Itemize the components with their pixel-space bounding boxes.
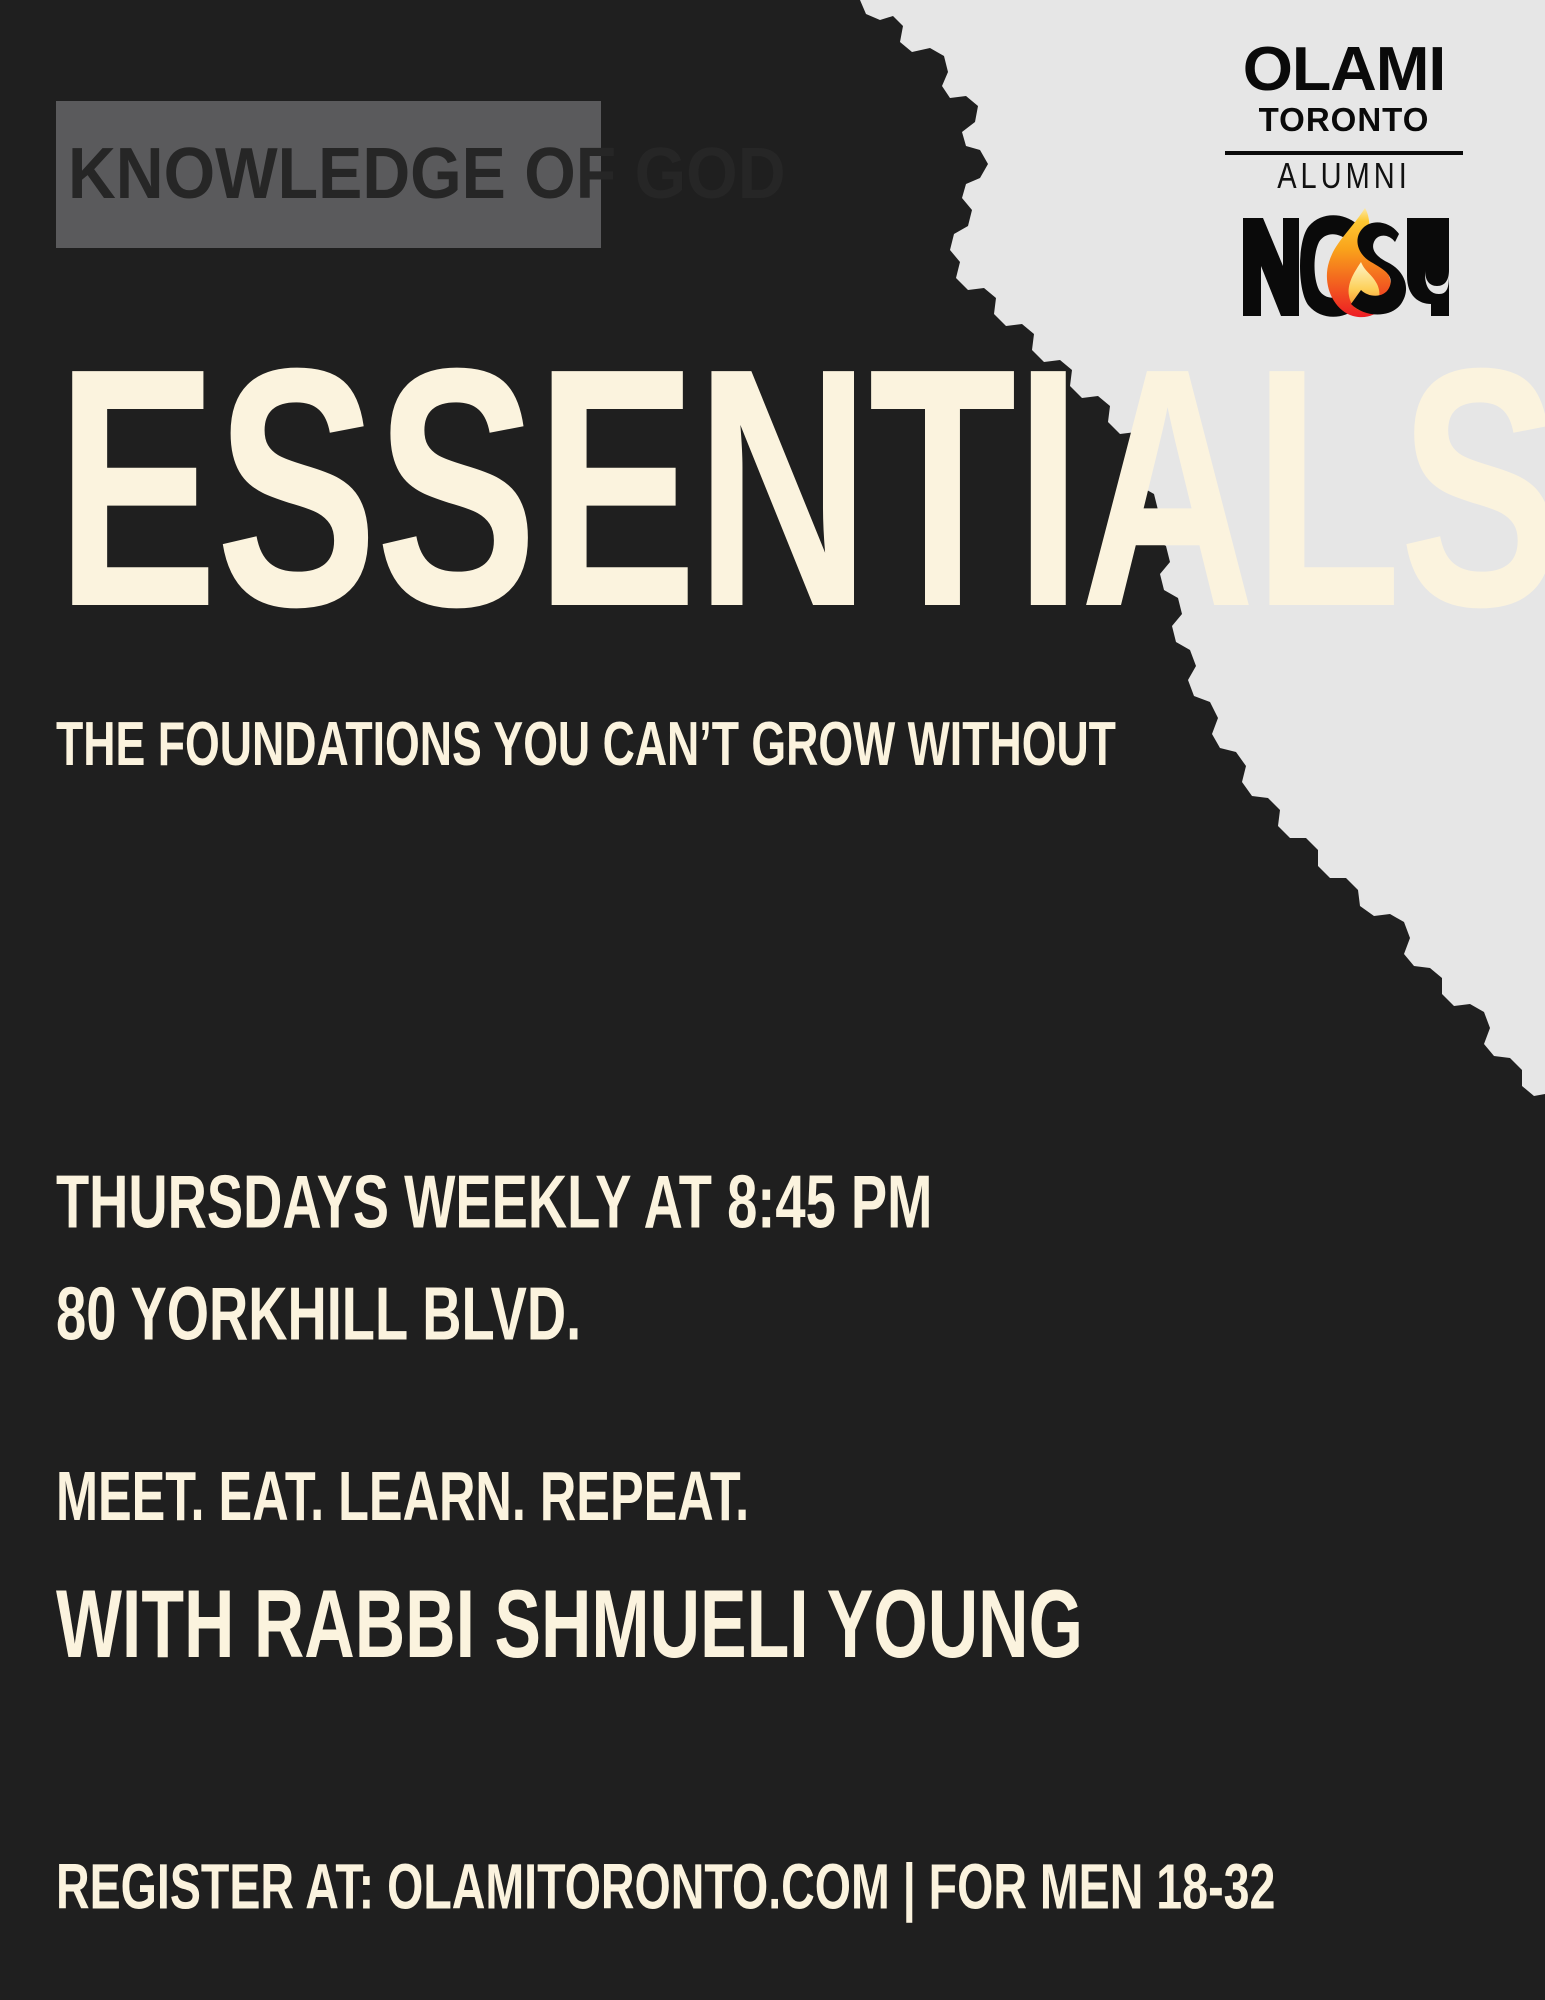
poster-content: ESSENTIALS THE FOUNDATIONS YOU CAN’T GRO… — [0, 0, 1545, 2000]
page-title: ESSENTIALS — [56, 348, 1545, 627]
event-time: THURSDAYS WEEKLY AT 8:45 PM — [56, 1158, 932, 1245]
registration-info: REGISTER AT: OLAMITORONTO.COM | FOR MEN … — [56, 1851, 1275, 1925]
poster-canvas: OLAMI TORONTO ALUMNI — [0, 0, 1545, 2000]
event-address: 80 YORKHILL BLVD. — [56, 1270, 581, 1357]
event-speaker: WITH RABBI SHMUELI YOUNG — [56, 1570, 1083, 1680]
page-subtitle: THE FOUNDATIONS YOU CAN’T GROW WITHOUT — [56, 712, 1116, 774]
event-tagline: MEET. EAT. LEARN. REPEAT. — [56, 1457, 749, 1537]
